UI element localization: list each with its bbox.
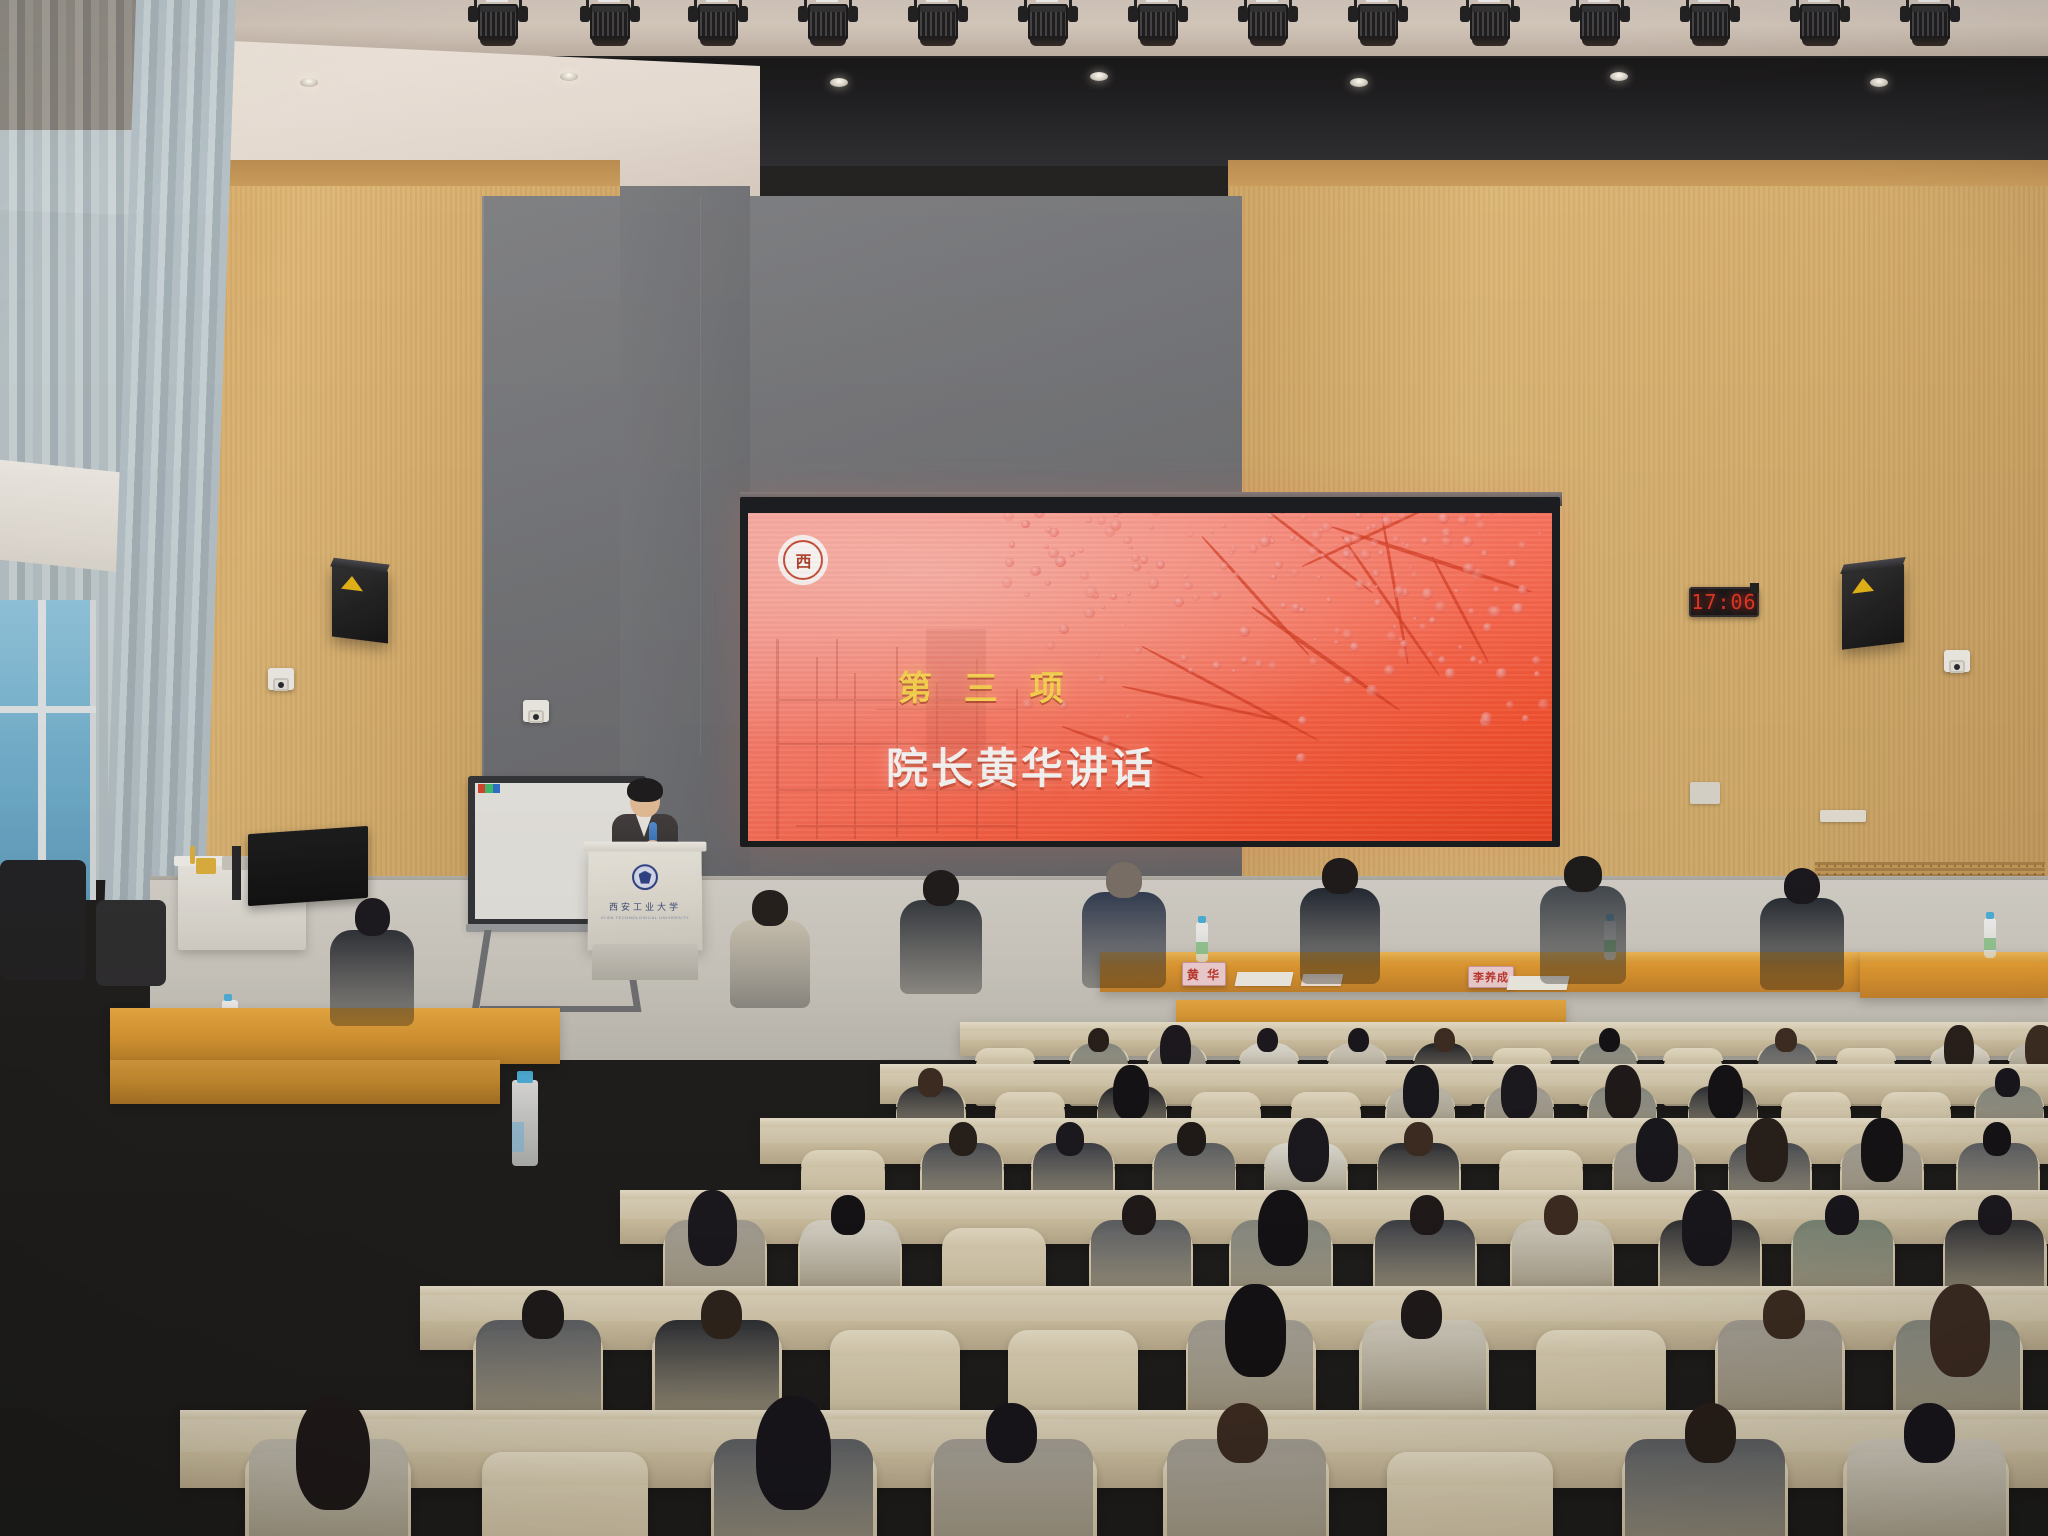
audience-member-head	[1266, 1195, 1300, 1235]
console-item-a	[196, 858, 216, 874]
podium-university-name: 西安工业大学	[588, 900, 702, 913]
presidium-member-torso	[1540, 886, 1626, 984]
audience-member-head	[767, 1403, 818, 1463]
whiteboard-markers	[478, 784, 500, 793]
presidium-member-head	[1106, 862, 1143, 898]
digital-wall-clock: 17:06	[1689, 587, 1759, 617]
water-bottle	[1196, 922, 1208, 962]
ceiling-downlight-4	[830, 78, 848, 87]
presidium-member-torso	[1082, 892, 1166, 988]
audience-member-head	[1643, 1122, 1672, 1156]
university-shield-icon	[632, 864, 658, 890]
presidium-member-head	[923, 870, 959, 906]
podium-university-name-en: XI'AN TECHNOLOGICAL UNIVERSITY	[588, 915, 702, 920]
audience-member-head	[986, 1403, 1037, 1463]
presidium-member-torso	[900, 900, 982, 994]
wall-trim-right	[1228, 160, 2048, 186]
audience-member-head	[1763, 1290, 1804, 1339]
nameplate-huanghua: 黄 华	[1182, 962, 1226, 986]
audience-member-head	[1434, 1028, 1455, 1053]
faculty-member-head	[355, 898, 390, 936]
ceiling-camera-right	[1944, 650, 1970, 672]
audience-member-head	[1217, 1403, 1268, 1463]
ceiling-downlight-7	[1610, 72, 1628, 81]
audience-member-head	[1410, 1195, 1444, 1235]
speaker-warning-icon	[341, 574, 363, 591]
wall-camera-stage	[523, 700, 549, 722]
nameplate-text: 李养成	[1473, 969, 1509, 985]
podium: 西安工业大学 XI'AN TECHNOLOGICAL UNIVERSITY	[587, 849, 702, 951]
window-mullion-horizontal	[0, 706, 96, 713]
stage-light-2	[582, 0, 638, 50]
audience-member-head	[307, 1403, 358, 1463]
audience-member-head	[1294, 1122, 1323, 1156]
console-item-c	[190, 846, 195, 864]
lecture-hall-photo: 西 第 三 项 院长黄华讲话 17:06	[0, 0, 2048, 1536]
audience-member-head	[1978, 1195, 2012, 1235]
audience-member-head	[1685, 1403, 1736, 1463]
operator-monitor[interactable]	[248, 826, 368, 906]
nameplate-text: 黄 华	[1187, 966, 1221, 983]
stage-light-8	[1240, 0, 1296, 50]
faculty-member-torso	[330, 930, 414, 1026]
audience-member-head	[1234, 1290, 1275, 1339]
window-left	[0, 600, 96, 900]
presidium-member-head	[752, 890, 787, 926]
audience-member-head	[1690, 1195, 1724, 1235]
ceiling-camera-left	[268, 668, 294, 690]
operator-chair[interactable]	[0, 860, 86, 980]
wall-outlet-plate	[1690, 782, 1720, 804]
stage-light-13	[1792, 0, 1848, 50]
wall-signage-plate	[1820, 810, 1866, 822]
operator-chair-2[interactable]	[96, 900, 166, 986]
ceiling-downlight-5	[1090, 72, 1108, 81]
clock-time: 17:06	[1691, 590, 1756, 614]
audience-member-head	[1775, 1028, 1796, 1053]
audience-member-head	[1995, 1068, 2019, 1097]
audience-member-head	[1165, 1028, 1186, 1053]
audience-member-head	[1904, 1403, 1955, 1463]
document-on-table	[1235, 972, 1294, 986]
monitor-arm	[232, 846, 241, 900]
stage-light-4	[800, 0, 856, 50]
speaker-warning-icon	[1852, 577, 1874, 594]
audience-seat[interactable]	[1387, 1452, 1553, 1536]
ceiling-downlight-6	[1350, 78, 1368, 87]
wall-seam-2	[700, 196, 701, 756]
audience-member-head	[1401, 1290, 1442, 1339]
stage-light-9	[1350, 0, 1406, 50]
ceiling-downlight-8	[1870, 78, 1888, 87]
wall-speaker-right	[1842, 564, 1904, 650]
audience-member-head	[1753, 1122, 1782, 1156]
audience-member-head	[1983, 1122, 2012, 1156]
audience-member-head	[522, 1290, 563, 1339]
audience-member-head	[1119, 1068, 1143, 1097]
water-bottle	[1984, 918, 1996, 958]
stage-light-10	[1462, 0, 1518, 50]
faculty-desk-front-apron	[110, 1060, 500, 1104]
audience-member-head	[1713, 1068, 1737, 1097]
audience-member-head	[949, 1122, 978, 1156]
audience-member-head	[1867, 1122, 1896, 1156]
stage-light-3	[690, 0, 746, 50]
audience-member-head	[1409, 1068, 1433, 1097]
stage-light-12	[1682, 0, 1738, 50]
audience-member-head	[831, 1195, 865, 1235]
ceiling-downlight-3	[560, 72, 578, 81]
audience-member-head	[1599, 1028, 1620, 1053]
audience-member-head	[2029, 1028, 2048, 1053]
stage-light-7	[1130, 0, 1186, 50]
audience-member-head	[1348, 1028, 1369, 1053]
presidium-member-head	[1784, 868, 1821, 904]
audience-member-head	[1056, 1122, 1085, 1156]
presidium-member-head	[1564, 856, 1602, 892]
audience-member-head	[1939, 1290, 1980, 1339]
audience-member-head	[1825, 1195, 1859, 1235]
screen-scanlines	[748, 513, 1552, 841]
audience-member-head	[1088, 1028, 1109, 1053]
ceiling-downlight-2	[300, 78, 318, 87]
audience-member-head	[1177, 1122, 1206, 1156]
wall-speaker-left	[332, 565, 388, 644]
audience-member-head	[701, 1290, 742, 1339]
audience-member-head	[695, 1195, 729, 1235]
audience-member-head	[1404, 1122, 1433, 1156]
audience-member-head	[1122, 1195, 1156, 1235]
stage-light-14	[1902, 0, 1958, 50]
presidium-table-far-right	[1860, 952, 2048, 998]
presidium-member-torso	[1300, 888, 1380, 984]
stage-light-1	[470, 0, 526, 50]
presidium-member-torso	[730, 920, 810, 1008]
audience-member-head	[1948, 1028, 1969, 1053]
audience-member-head	[918, 1068, 942, 1097]
audience-member-head	[1544, 1195, 1578, 1235]
water-bottle-foreground	[512, 1080, 538, 1166]
presidium-member-torso	[1760, 898, 1844, 990]
stage-light-11	[1572, 0, 1628, 50]
led-display[interactable]: 西 第 三 项 院长黄华讲话	[748, 513, 1552, 841]
presidium-member-head	[1322, 858, 1357, 894]
audience-seat[interactable]	[482, 1452, 648, 1536]
stage-light-5	[910, 0, 966, 50]
audience-member-head	[1610, 1068, 1634, 1097]
window-mullion-vertical	[38, 600, 46, 900]
podium-base	[592, 944, 698, 980]
audience-member-head	[1507, 1068, 1531, 1097]
audience-member-head	[1257, 1028, 1278, 1053]
stage-light-6	[1020, 0, 1076, 50]
